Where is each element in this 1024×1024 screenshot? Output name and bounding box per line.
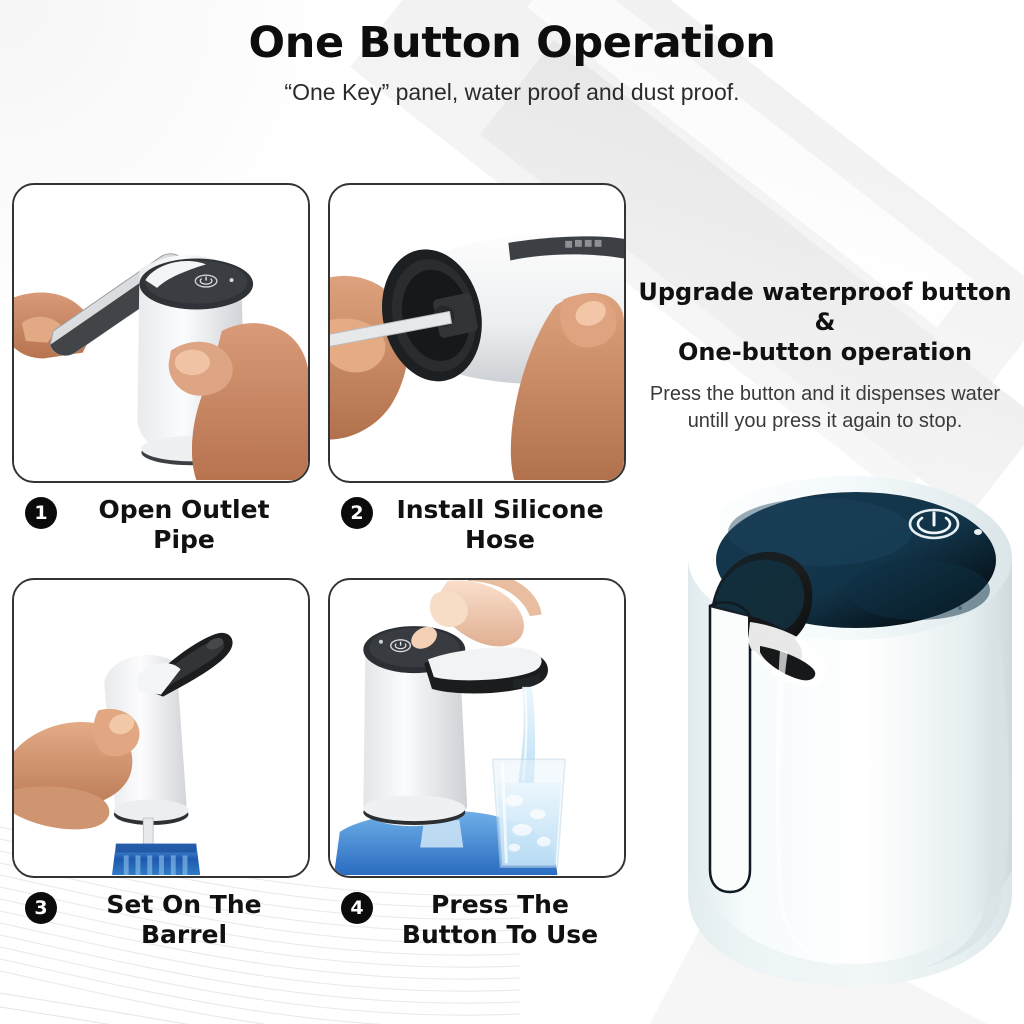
step-4-caption: 4 Press The Button To Use — [328, 890, 628, 949]
step-2-label: Install Silicone Hose — [385, 495, 615, 554]
step-2-photo — [328, 183, 626, 483]
feature-body: Press the button and it dispenses water … — [636, 381, 1014, 434]
step-3: 3 Set On The Barrel — [12, 578, 312, 949]
step-4: 4 Press The Button To Use — [328, 578, 628, 949]
step-3-number-badge: 3 — [25, 892, 57, 924]
step-4-photo — [328, 578, 626, 878]
feature-title-line-2: One-button operation — [636, 338, 1014, 368]
led-indicator-dot — [974, 529, 982, 535]
drinking-glass — [493, 759, 566, 867]
step-1: 1 Open Outlet Pipe — [12, 183, 312, 554]
step-1-label: Open Outlet Pipe — [69, 495, 299, 554]
step-1-number-badge: 1 — [25, 497, 57, 529]
feature-title-line-1: Upgrade waterproof button & — [636, 278, 1014, 338]
step-4-label: Press The Button To Use — [385, 890, 615, 949]
feature-title: Upgrade waterproof button & One-button o… — [636, 278, 1014, 367]
step-2: 2 Install Silicone Hose — [328, 183, 628, 554]
step-2-caption: 2 Install Silicone Hose — [328, 495, 628, 554]
page-subtitle: “One Key” panel, water proof and dust pr… — [0, 79, 1024, 106]
water-barrel — [112, 844, 200, 875]
page-header: One Button Operation “One Key” panel, wa… — [0, 20, 1024, 106]
led-indicator-dot — [230, 278, 234, 282]
steps-row-bottom: 3 Set On The Barrel — [12, 578, 628, 949]
hero-spout-wall — [710, 606, 750, 892]
step-1-photo — [12, 183, 310, 483]
step-3-label: Set On The Barrel — [69, 890, 299, 949]
steps-grid: 1 Open Outlet Pipe — [12, 183, 628, 949]
hero-product-image — [660, 440, 1024, 1000]
led-indicator-dot — [379, 640, 383, 644]
step-3-photo — [12, 578, 310, 878]
step-2-number-badge: 2 — [341, 497, 373, 529]
step-4-number-badge: 4 — [341, 892, 373, 924]
steps-row-top: 1 Open Outlet Pipe — [12, 183, 628, 554]
feature-text-block: Upgrade waterproof button & One-button o… — [636, 278, 1014, 434]
step-3-caption: 3 Set On The Barrel — [12, 890, 312, 949]
page-title: One Button Operation — [0, 20, 1024, 67]
step-1-caption: 1 Open Outlet Pipe — [12, 495, 312, 554]
power-icon — [910, 510, 958, 538]
